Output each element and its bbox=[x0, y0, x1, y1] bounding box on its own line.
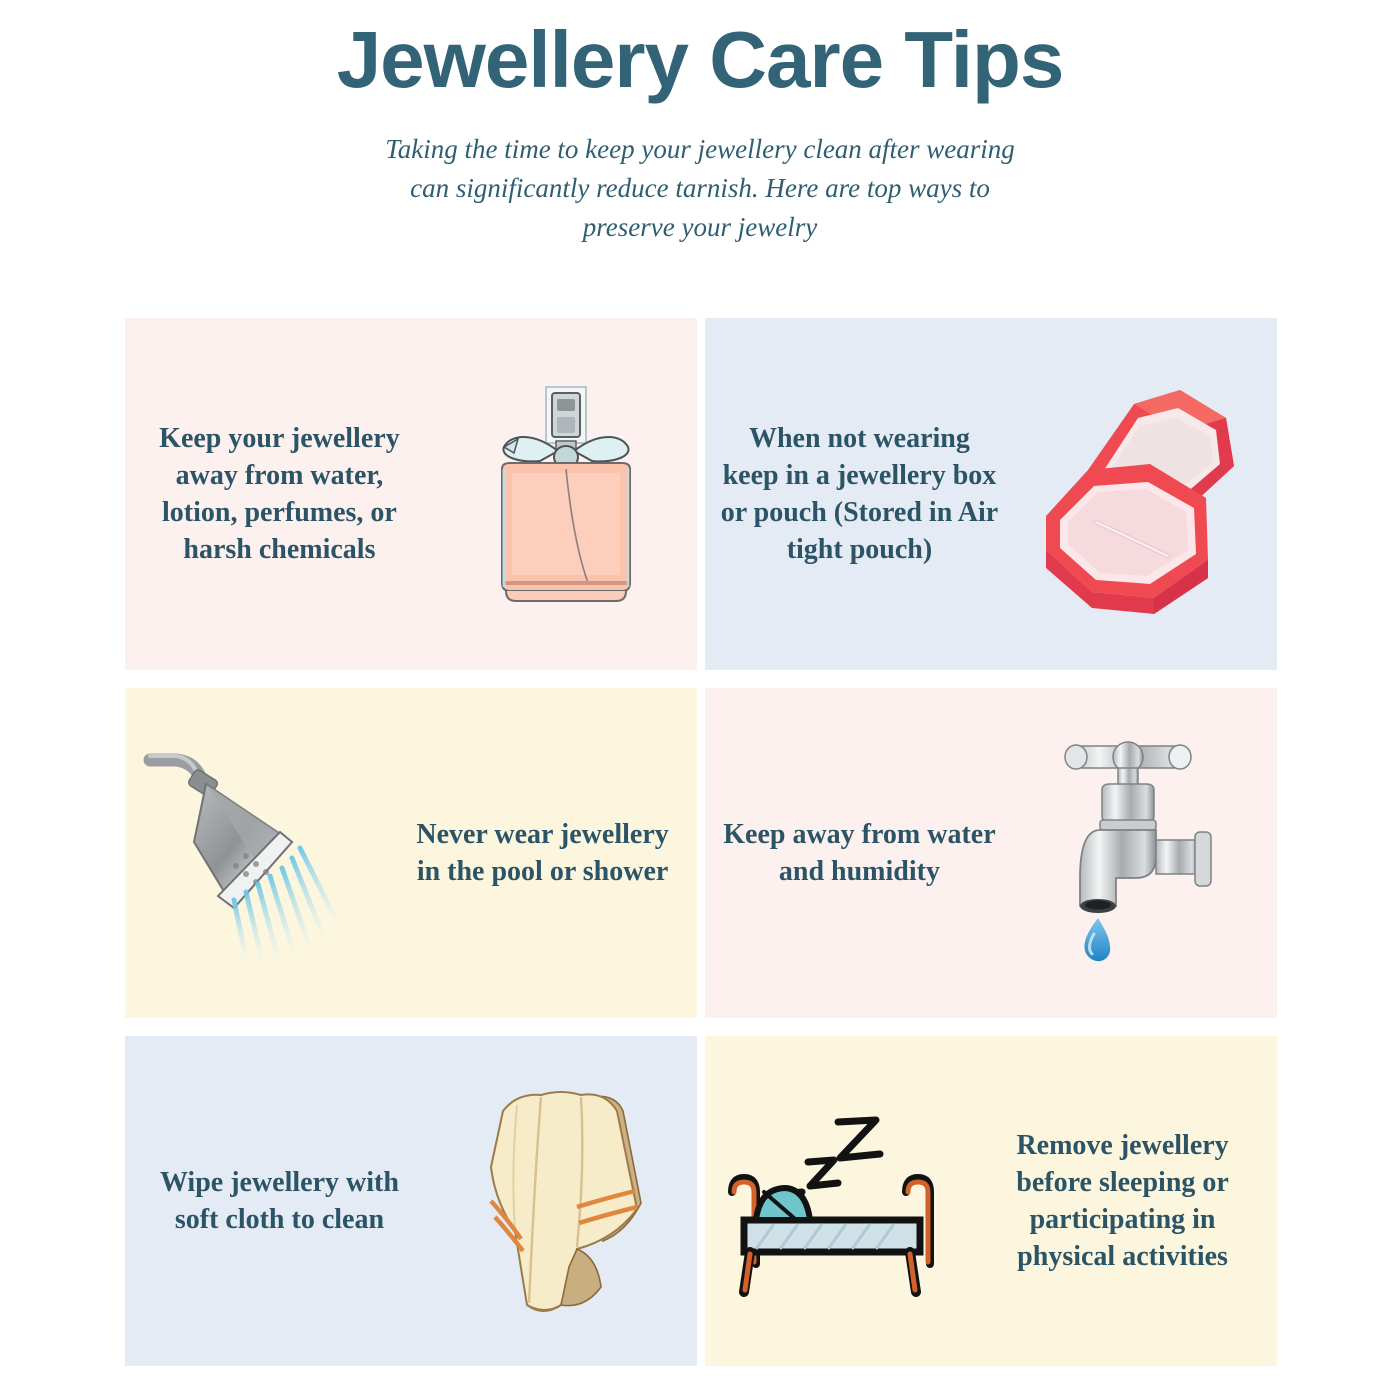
tip-card-soft-cloth: Wipe jewellery with soft cloth to clean bbox=[125, 1036, 697, 1366]
tip-card-water-humidity: Keep away from water and humidity bbox=[705, 688, 1277, 1018]
infographic-page: Jewellery Care Tips Taking the time to k… bbox=[0, 0, 1400, 1400]
ring-box-icon bbox=[1014, 318, 1277, 670]
bed-zzz-icon bbox=[705, 1036, 968, 1366]
page-subtitle: Taking the time to keep your jewellery c… bbox=[380, 130, 1020, 247]
tip-text: When not wearing keep in a jewellery box… bbox=[705, 420, 1014, 569]
tip-text: Never wear jewellery in the pool or show… bbox=[388, 816, 697, 890]
faucet-drip-icon bbox=[1014, 688, 1277, 1018]
header: Jewellery Care Tips Taking the time to k… bbox=[0, 0, 1400, 247]
tip-text: Keep away from water and humidity bbox=[705, 816, 1014, 890]
tip-card-pool-shower: Never wear jewellery in the pool or show… bbox=[125, 688, 697, 1018]
shower-head-icon bbox=[125, 688, 388, 1018]
tip-text: Wipe jewellery with soft cloth to clean bbox=[125, 1164, 434, 1238]
tip-card-jewellery-box: When not wearing keep in a jewellery box… bbox=[705, 318, 1277, 670]
page-title: Jewellery Care Tips bbox=[0, 18, 1400, 102]
cloth-icon bbox=[434, 1036, 697, 1366]
tips-grid: Keep your jewellery away from water, lot… bbox=[125, 318, 1277, 1366]
perfume-bottle-icon bbox=[434, 318, 697, 670]
tip-text: Remove jewellery before sleeping or part… bbox=[968, 1127, 1277, 1276]
tip-text: Keep your jewellery away from water, lot… bbox=[125, 420, 434, 569]
tip-card-sleeping-activities: Remove jewellery before sleeping or part… bbox=[705, 1036, 1277, 1366]
tip-card-water-lotion-perfume: Keep your jewellery away from water, lot… bbox=[125, 318, 697, 670]
